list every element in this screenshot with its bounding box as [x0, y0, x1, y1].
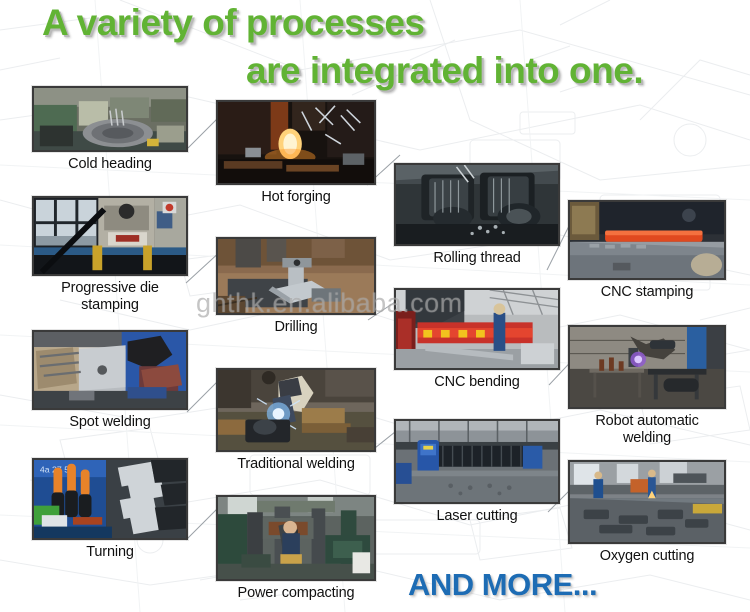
- process-photo-power-compacting: [216, 495, 376, 581]
- process-caption-hot-forging: Hot forging: [216, 189, 376, 206]
- process-card-power-compacting[interactable]: Power compacting: [216, 495, 376, 602]
- process-card-drilling[interactable]: Drilling: [216, 237, 376, 336]
- process-card-cold-heading[interactable]: Cold heading: [32, 86, 188, 173]
- process-photo-rolling-thread: [394, 163, 560, 246]
- caption-text: Robot automatic welding: [595, 413, 698, 446]
- process-caption-rolling-thread: Rolling thread: [394, 250, 560, 267]
- process-photo-turning: 4a 27 51: [32, 458, 188, 540]
- process-photo-cnc-stamping: [568, 200, 726, 280]
- process-card-cnc-stamping[interactable]: CNC stamping: [568, 200, 726, 301]
- process-caption-oxygen-cutting: Oxygen cutting: [568, 548, 726, 565]
- process-photo-laser-cutting: [394, 419, 560, 504]
- process-photo-spot-welding: [32, 330, 188, 410]
- and-more-label: AND MORE...: [408, 567, 597, 603]
- process-card-hot-forging[interactable]: Hot forging: [216, 100, 376, 206]
- process-card-spot-welding[interactable]: Spot welding: [32, 330, 188, 431]
- process-caption-spot-welding: Spot welding: [32, 414, 188, 431]
- process-photo-oxygen-cutting: [568, 460, 726, 544]
- headline-line-1: A variety of processes: [42, 2, 425, 44]
- process-photo-cold-heading: [32, 86, 188, 152]
- headline-line-2: are integrated into one.: [246, 50, 643, 92]
- process-caption-cnc-stamping: CNC stamping: [568, 284, 726, 301]
- process-caption-traditional-welding: Traditional welding: [216, 456, 376, 473]
- process-caption-robot-automatic-welding: Robot automatic welding: [568, 413, 726, 447]
- process-photo-hot-forging: [216, 100, 376, 185]
- process-card-robot-automatic-welding[interactable]: Robot automatic welding: [568, 325, 726, 447]
- process-card-turning[interactable]: 4a 27 51: [32, 458, 188, 561]
- caption-text: Progressive die stamping: [61, 280, 159, 313]
- poster-canvas: A variety of processes are integrated in…: [0, 0, 750, 612]
- process-caption-power-compacting: Power compacting: [216, 585, 376, 602]
- process-card-laser-cutting[interactable]: Laser cutting: [394, 419, 560, 525]
- process-caption-cold-heading: Cold heading: [32, 156, 188, 173]
- process-caption-cnc-bending: CNC bending: [394, 374, 560, 391]
- process-card-rolling-thread[interactable]: Rolling thread: [394, 163, 560, 267]
- process-photo-progressive-die-stamping: [32, 196, 188, 276]
- process-caption-laser-cutting: Laser cutting: [394, 508, 560, 525]
- process-photo-robot-automatic-welding: [568, 325, 726, 409]
- process-card-traditional-welding[interactable]: Traditional welding: [216, 368, 376, 473]
- process-caption-turning: Turning: [32, 544, 188, 561]
- process-caption-progressive-die-stamping: Progressive die stamping: [32, 280, 188, 314]
- process-card-progressive-die-stamping[interactable]: Progressive die stamping: [32, 196, 188, 314]
- site-watermark: ghthk.en.alibaba.com: [196, 288, 463, 319]
- process-caption-drilling: Drilling: [216, 319, 376, 336]
- process-photo-traditional-welding: [216, 368, 376, 452]
- process-card-oxygen-cutting[interactable]: Oxygen cutting: [568, 460, 726, 565]
